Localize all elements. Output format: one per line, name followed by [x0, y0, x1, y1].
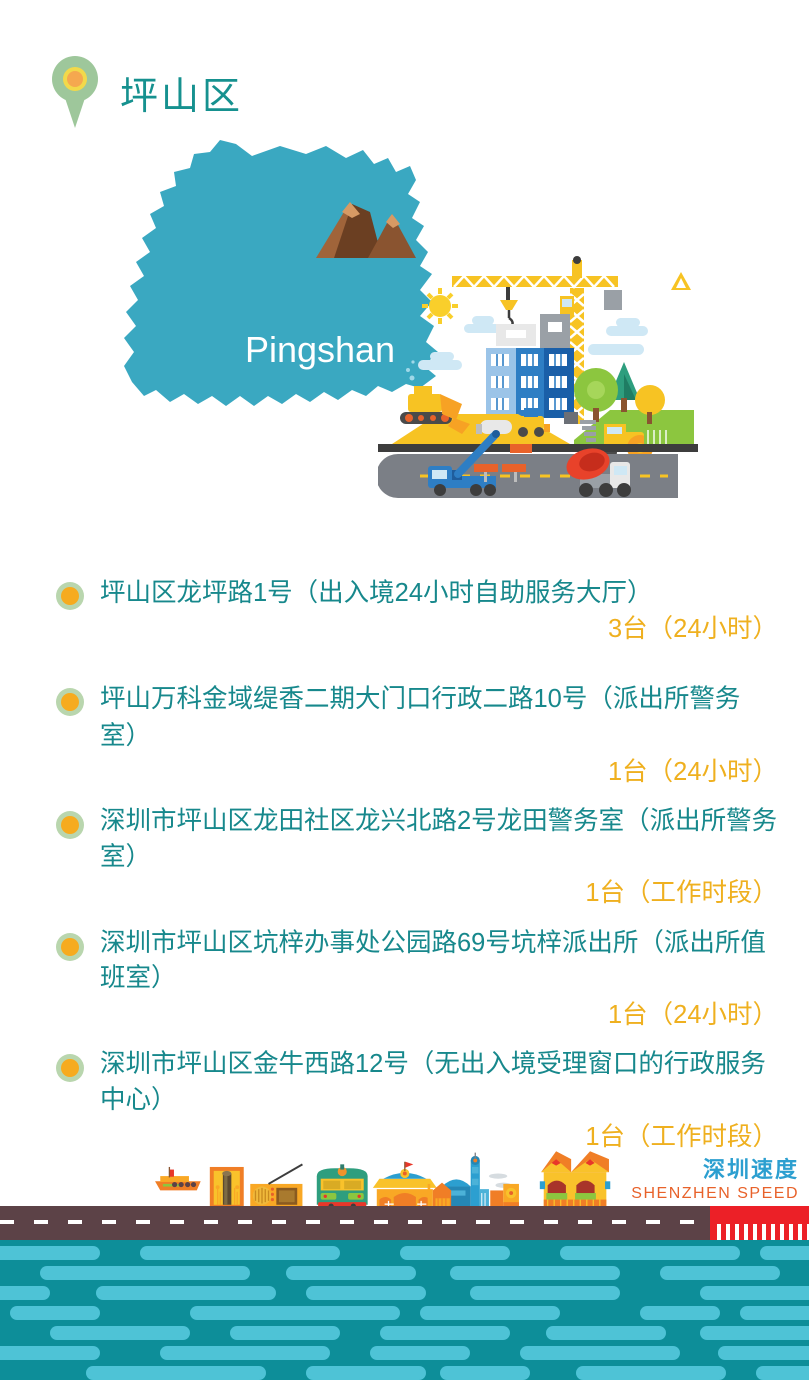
warning-sign-icon [671, 272, 691, 290]
list-item[interactable]: 深圳市坪山区金牛西路12号（无出入境受理窗口的行政服务中心） 1台（工作时段） [48, 1047, 778, 1155]
location-address: 坪山万科金域缇香二期大门口行政二路10号（派出所警务室） [100, 681, 778, 753]
page-footer: 深圳速度 SHENZHEN SPEED [0, 1150, 809, 1380]
watermark-chinese: 深圳速度 [631, 1152, 799, 1184]
wave-pattern [0, 1240, 809, 1380]
watermark: 深圳速度 SHENZHEN SPEED [631, 1152, 799, 1203]
page-header: 坪山区 [52, 56, 243, 128]
illustration-area: Pingshan [0, 140, 809, 520]
bullet-icon [56, 811, 84, 839]
train-icon [317, 1164, 368, 1208]
service-location-list: 坪山区龙坪路1号（出入境24小时自助服务大厅） 3台（24小时） 坪山万科金域缇… [48, 575, 778, 1159]
watermark-english: SHENZHEN SPEED [631, 1185, 799, 1203]
bullet-icon [56, 933, 84, 961]
list-item[interactable]: 坪山万科金域缇香二期大门口行政二路10号（派出所警务室） 1台（24小时） [48, 681, 778, 790]
machine-count: 1台（24小时） [100, 997, 778, 1033]
dome-building-icon [428, 1179, 471, 1208]
bullet-icon [56, 688, 84, 716]
machine-count: 1台（工作时段） [100, 875, 778, 911]
machine-count: 1台（24小时） [100, 754, 778, 790]
water-section [0, 1240, 809, 1380]
bullet-icon [56, 1054, 84, 1082]
machine-count: 3台（24小时） [100, 611, 778, 647]
construction-site-illustration [378, 248, 698, 508]
list-item[interactable]: 坪山区龙坪路1号（出入境24小时自助服务大厅） 3台（24小时） [48, 575, 778, 647]
red-accent-bars [712, 1224, 809, 1240]
arch-gate-icon [373, 1162, 437, 1209]
sun-icon [422, 288, 458, 324]
road-dashes [0, 1220, 809, 1224]
radio-icon [250, 1164, 302, 1208]
list-item[interactable]: 深圳市坪山区龙田社区龙兴北路2号龙田警务室（派出所警务室） 1台（工作时段） [48, 804, 778, 912]
list-item[interactable]: 深圳市坪山区坑梓办事处公园路69号坑梓派出所（派出所值班室） 1台（24小时） [48, 926, 778, 1034]
map-pin-icon [52, 56, 98, 128]
excavator-icon [400, 360, 470, 434]
bullet-icon [56, 582, 84, 610]
map-label: Pingshan [245, 329, 395, 370]
page-title: 坪山区 [120, 65, 243, 120]
location-address: 深圳市坪山区金牛西路12号（无出入境受理窗口的行政服务中心） [100, 1047, 778, 1118]
map-pin-dot [67, 71, 83, 87]
station-building-icon [490, 1184, 519, 1209]
location-address: 深圳市坪山区龙田社区龙兴北路2号龙田警务室（派出所警务室） [100, 804, 778, 875]
postage-stamp-monument-icon [210, 1167, 244, 1209]
location-address: 深圳市坪山区坑梓办事处公园路69号坑梓派出所（派出所值班室） [100, 926, 778, 997]
twin-arch-building-icon [540, 1151, 610, 1208]
ferry-boat-icon [155, 1167, 201, 1190]
location-address: 坪山区龙坪路1号（出入境24小时自助服务大厅） [100, 575, 778, 611]
